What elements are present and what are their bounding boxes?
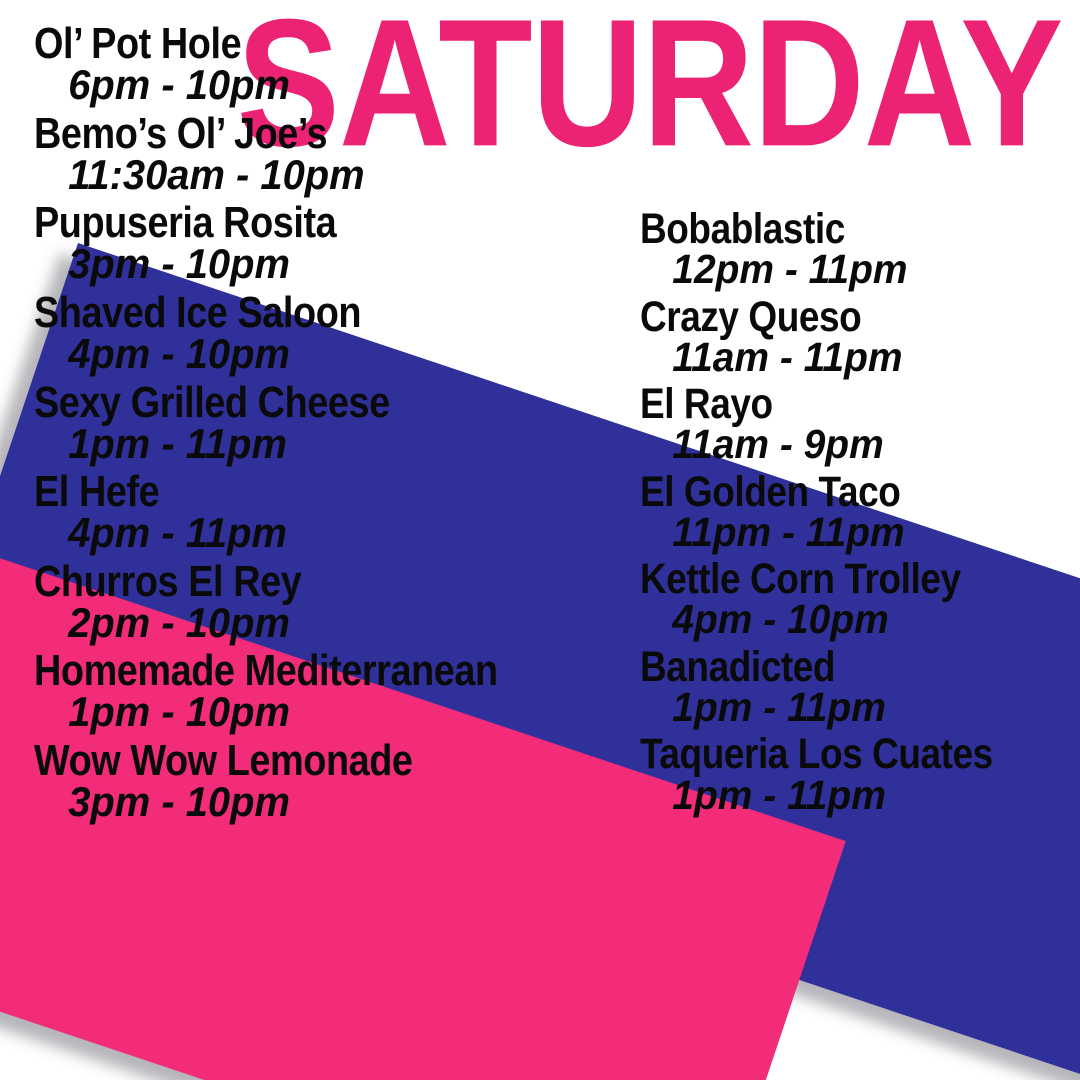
vendor-entry: El Rayo11am - 9pm: [640, 383, 1080, 467]
vendor-hours: 3pm - 10pm: [34, 780, 604, 825]
vendor-column-left: Ol’ Pot Hole6pm - 10pmBemo’s Ol’ Joe’s11…: [34, 22, 634, 829]
vendor-entry: Wow Wow Lemonade3pm - 10pm: [34, 739, 634, 825]
vendor-name: Crazy Queso: [640, 296, 1018, 338]
vendor-hours: 4pm - 10pm: [34, 332, 604, 377]
vendor-name: Wow Wow Lemonade: [34, 739, 550, 782]
vendor-hours: 4pm - 11pm: [34, 511, 604, 556]
vendor-entry: Taqueria Los Cuates1pm - 11pm: [640, 733, 1080, 817]
vendor-entry: Ol’ Pot Hole6pm - 10pm: [34, 22, 634, 108]
vendor-name: El Hefe: [34, 470, 550, 513]
vendor-name: Churros El Rey: [34, 560, 550, 603]
vendor-entry: Shaved Ice Saloon4pm - 10pm: [34, 291, 634, 377]
vendor-hours: 1pm - 11pm: [640, 686, 1058, 729]
vendor-name: Sexy Grilled Cheese: [34, 381, 550, 424]
vendor-entry: Homemade Mediterranean1pm - 10pm: [34, 649, 634, 735]
vendor-entry: Crazy Queso11am - 11pm: [640, 296, 1080, 380]
vendor-hours: 12pm - 11pm: [640, 248, 1058, 291]
vendor-hours: 4pm - 10pm: [640, 598, 1058, 641]
vendor-entry: Sexy Grilled Cheese1pm - 11pm: [34, 381, 634, 467]
vendor-name: Pupuseria Rosita: [34, 201, 550, 244]
vendor-entry: Churros El Rey2pm - 10pm: [34, 560, 634, 646]
vendor-name: Ol’ Pot Hole: [34, 22, 550, 65]
vendor-name: Bemo’s Ol’ Joe’s: [34, 112, 550, 155]
vendor-hours: 6pm - 10pm: [34, 63, 604, 108]
vendor-hours: 1pm - 11pm: [640, 774, 1058, 817]
vendor-entry: Pupuseria Rosita3pm - 10pm: [34, 201, 634, 287]
vendor-entry: El Golden Taco11pm - 11pm: [640, 471, 1080, 555]
vendor-entry: El Hefe4pm - 11pm: [34, 470, 634, 556]
vendor-hours: 11:30am - 10pm: [34, 153, 604, 198]
vendor-name: Shaved Ice Saloon: [34, 291, 550, 334]
vendor-entry: Bemo’s Ol’ Joe’s11:30am - 10pm: [34, 112, 634, 198]
vendor-name: Taqueria Los Cuates: [640, 733, 1018, 775]
vendor-hours: 3pm - 10pm: [34, 242, 604, 287]
vendor-name: Banadicted: [640, 646, 1018, 688]
vendor-entry: Kettle Corn Trolley4pm - 10pm: [640, 558, 1080, 642]
vendor-name: El Golden Taco: [640, 471, 1018, 513]
vendor-entry: Bobablastic12pm - 11pm: [640, 208, 1080, 292]
saturday-food-truck-schedule-poster: SATURDAY Ol’ Pot Hole6pm - 10pmBemo’s Ol…: [0, 0, 1080, 1080]
vendor-hours: 2pm - 10pm: [34, 601, 604, 646]
vendor-hours: 1pm - 11pm: [34, 422, 604, 467]
vendor-hours: 11am - 11pm: [640, 336, 1058, 379]
vendor-name: Bobablastic: [640, 208, 1018, 250]
vendor-name: Kettle Corn Trolley: [640, 558, 1018, 600]
vendor-column-right: Bobablastic12pm - 11pmCrazy Queso11am - …: [640, 208, 1080, 821]
vendor-hours: 11am - 9pm: [640, 423, 1058, 466]
vendor-hours: 1pm - 10pm: [34, 690, 604, 735]
vendor-hours: 11pm - 11pm: [640, 511, 1058, 554]
vendor-name: Homemade Mediterranean: [34, 649, 550, 692]
vendor-name: El Rayo: [640, 383, 1018, 425]
vendor-entry: Banadicted1pm - 11pm: [640, 646, 1080, 730]
